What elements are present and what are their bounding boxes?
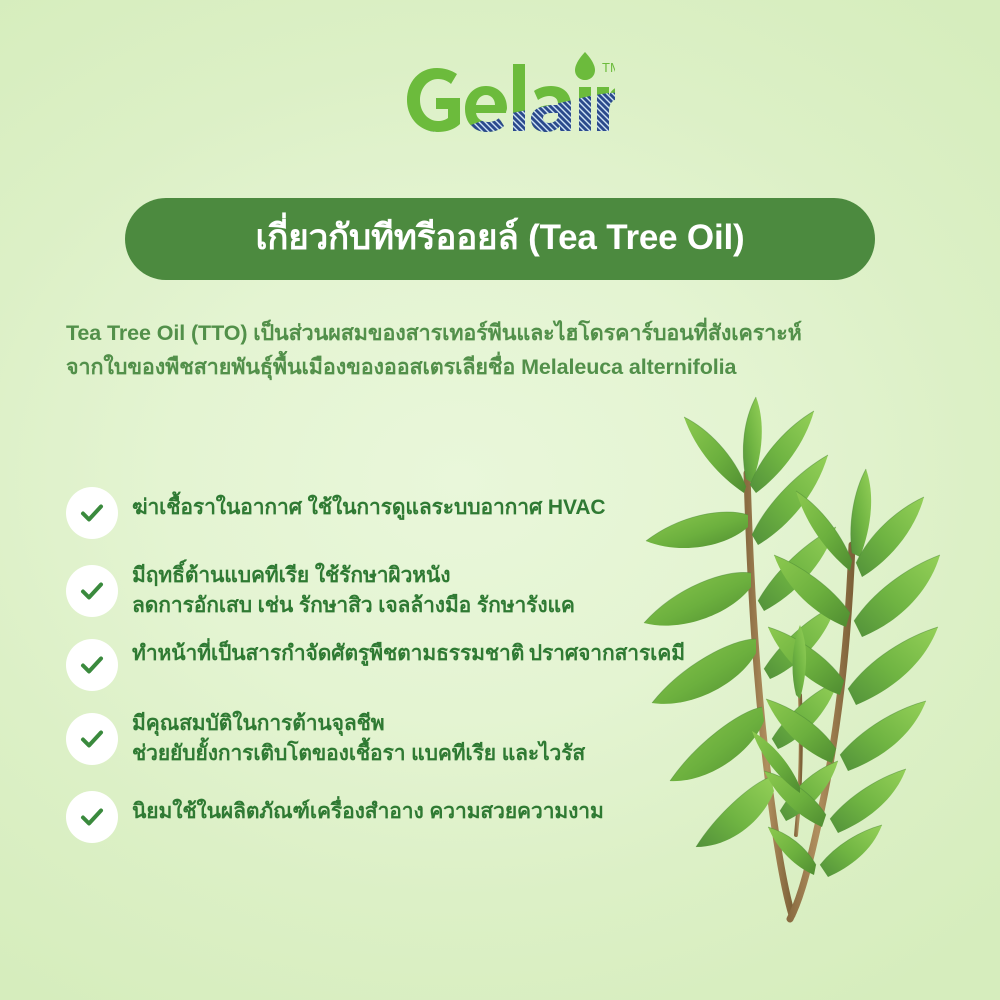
check-icon bbox=[66, 565, 118, 617]
list-item-line: มีคุณสมบัติในการต้านจุลชีพ bbox=[132, 712, 385, 735]
list-item-line: มีฤทธิ์ต้านแบคทีเรีย ใช้รักษาผิวหนัง bbox=[132, 564, 450, 587]
leaf-droplet-icon bbox=[575, 52, 595, 80]
list-item-line: ช่วยยับยั้งการเติบโตของเชื้อรา แบคทีเรีย… bbox=[132, 742, 585, 765]
brand-logo: TM bbox=[0, 46, 1000, 146]
check-icon bbox=[66, 639, 118, 691]
tea-tree-branch-illustration bbox=[640, 395, 1000, 955]
benefits-list: ฆ่าเชื้อราในอากาศ ใช้ในการดูแลระบบอากาศ … bbox=[66, 487, 686, 843]
list-item: ทำหน้าที่เป็นสารกำจัดศัตรูพืชตามธรรมชาติ… bbox=[66, 639, 686, 691]
page-title: เกี่ยวกับทีทรีออยล์ (Tea Tree Oil) bbox=[256, 220, 745, 259]
intro-line-1: Tea Tree Oil (TTO) เป็นส่วนผสมของสารเทอร… bbox=[66, 316, 884, 350]
list-item-line: ทำหน้าที่เป็นสารกำจัดศัตรูพืชตามธรรมชาติ bbox=[132, 642, 524, 665]
list-item-line: ปราศจากสารเคมี bbox=[529, 642, 685, 665]
list-item-text: ฆ่าเชื้อราในอากาศ ใช้ในการดูแลระบบอากาศ … bbox=[132, 487, 605, 523]
trademark-symbol: TM bbox=[602, 60, 615, 75]
check-icon bbox=[66, 487, 118, 539]
section-banner: เกี่ยวกับทีทรีออยล์ (Tea Tree Oil) bbox=[125, 198, 875, 280]
list-item-line: ฆ่าเชื้อราในอากาศ ใช้ในการดูแลระบบอากาศ … bbox=[132, 496, 605, 519]
list-item-text: มีฤทธิ์ต้านแบคทีเรีย ใช้รักษาผิวหนัง ลดก… bbox=[132, 561, 686, 621]
list-item: มีคุณสมบัติในการต้านจุลชีพ ช่วยยับยั้งกา… bbox=[66, 709, 686, 769]
leaf-cluster-right bbox=[752, 469, 940, 877]
list-item-text: ทำหน้าที่เป็นสารกำจัดศัตรูพืชตามธรรมชาติ… bbox=[132, 639, 685, 669]
poster-canvas: TM เกี่ยวกับทีทรีออยล์ (Tea Tree Oil) Te… bbox=[0, 0, 1000, 1000]
check-icon bbox=[66, 713, 118, 765]
list-item: นิยมใช้ในผลิตภัณฑ์เครื่องสำอาง ความสวยคว… bbox=[66, 791, 686, 843]
list-item-line: นิยมใช้ในผลิตภัณฑ์เครื่องสำอาง ความสวยคว… bbox=[132, 800, 604, 823]
list-item-text: นิยมใช้ในผลิตภัณฑ์เครื่องสำอาง ความสวยคว… bbox=[132, 791, 604, 827]
branch-stems bbox=[747, 473, 852, 919]
intro-paragraph: Tea Tree Oil (TTO) เป็นส่วนผสมของสารเทอร… bbox=[66, 316, 884, 384]
list-item-text: มีคุณสมบัติในการต้านจุลชีพ ช่วยยับยั้งกา… bbox=[132, 709, 686, 769]
list-item-line: ลดการอักเสบ เช่น รักษาสิว เจลล้างมือ รัก… bbox=[132, 594, 575, 617]
check-icon bbox=[66, 791, 118, 843]
intro-line-2: จากใบของพืชสายพันธุ์พื้นเมืองของออสเตรเล… bbox=[66, 350, 884, 384]
list-item: มีฤทธิ์ต้านแบคทีเรีย ใช้รักษาผิวหนัง ลดก… bbox=[66, 561, 686, 621]
list-item: ฆ่าเชื้อราในอากาศ ใช้ในการดูแลระบบอากาศ … bbox=[66, 487, 686, 539]
gelair-logo: TM bbox=[385, 46, 615, 146]
